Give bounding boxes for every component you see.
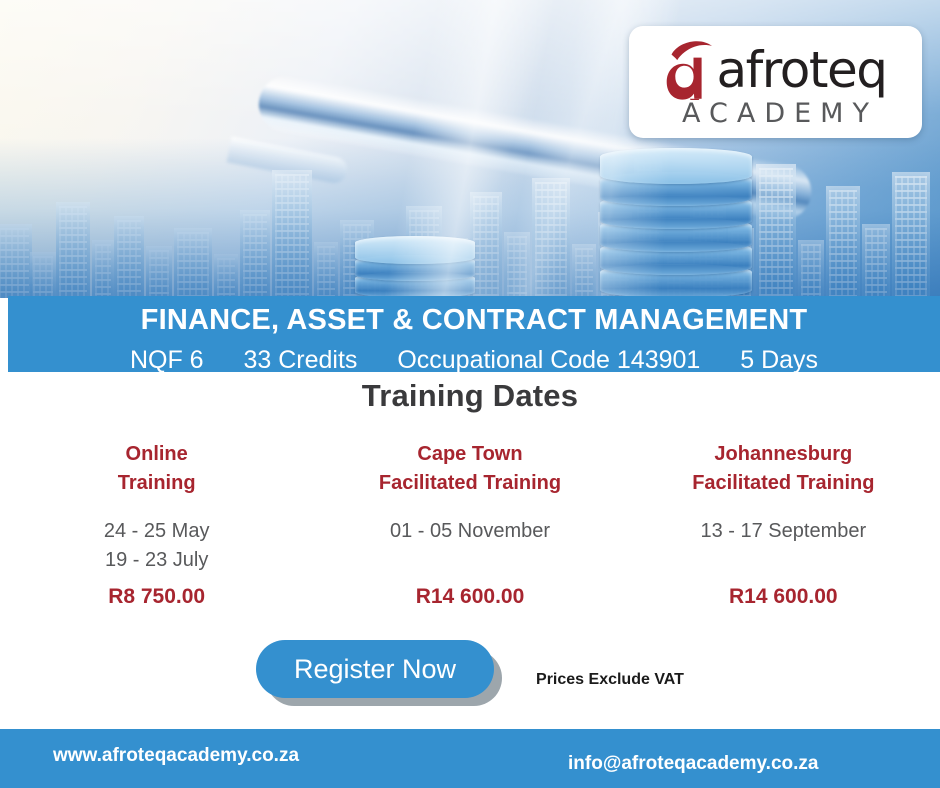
training-column-cape-town: Cape Town Facilitated Training 01 - 05 N… — [313, 440, 626, 575]
footer-bar: www.afroteqacademy.co.za info@afroteqaca… — [0, 729, 940, 788]
column-title: Online Training — [0, 440, 313, 498]
vat-note: Prices Exclude VAT — [536, 671, 684, 689]
training-columns: Online Training 24 - 25 May 19 - 23 July… — [0, 440, 940, 575]
register-now-button[interactable]: Register Now — [256, 640, 494, 698]
column-title: Cape Town Facilitated Training — [313, 440, 626, 498]
price-value: R8 750.00 — [108, 585, 205, 608]
coin-stack-secondary-graphic — [355, 208, 475, 298]
logo-subtitle: ACADEMY — [682, 100, 878, 127]
course-title: FINANCE, ASSET & CONTRACT MANAGEMENT — [8, 306, 940, 335]
nqf-level: NQF 6 — [130, 348, 204, 372]
course-promo-poster: afroteq ACADEMY FINANCE, ASSET & CONTRAC… — [0, 0, 940, 788]
duration: 5 Days — [740, 348, 818, 372]
prices-row: R8 750.00 R14 600.00 R14 600.00 — [0, 585, 940, 609]
coin-stack-graphic — [600, 138, 752, 298]
price-value: R14 600.00 — [729, 585, 838, 608]
training-column-online: Online Training 24 - 25 May 19 - 23 July — [0, 440, 313, 575]
stylized-a-icon — [659, 40, 715, 100]
column-dates: 01 - 05 November — [313, 517, 626, 546]
training-dates-section: Training Dates Online Training 24 - 25 M… — [0, 372, 940, 729]
price-cell-cape-town: R14 600.00 — [313, 585, 626, 609]
course-title-banner: FINANCE, ASSET & CONTRACT MANAGEMENT NQF… — [8, 296, 940, 372]
logo-card: afroteq ACADEMY — [629, 26, 922, 138]
website-link[interactable]: www.afroteqacademy.co.za — [53, 745, 299, 767]
price-cell-johannesburg: R14 600.00 — [627, 585, 940, 609]
column-dates: 13 - 17 September — [627, 517, 940, 546]
training-column-johannesburg: Johannesburg Facilitated Training 13 - 1… — [627, 440, 940, 575]
logo-wordmark: afroteq — [717, 45, 887, 95]
email-link[interactable]: info@afroteqacademy.co.za — [568, 753, 818, 775]
hero-banner-image: afroteq ACADEMY — [0, 0, 940, 298]
section-heading: Training Dates — [0, 378, 940, 414]
column-title: Johannesburg Facilitated Training — [627, 440, 940, 498]
column-dates: 24 - 25 May 19 - 23 July — [0, 517, 313, 576]
credits: 33 Credits — [243, 348, 357, 372]
occupational-code: Occupational Code 143901 — [397, 348, 700, 372]
price-value: R14 600.00 — [416, 585, 525, 608]
course-meta-row: NQF 6 33 Credits Occupational Code 14390… — [8, 348, 940, 372]
price-cell-online: R8 750.00 — [0, 585, 313, 609]
cta-row: Register Now Prices Exclude VAT — [0, 640, 940, 698]
